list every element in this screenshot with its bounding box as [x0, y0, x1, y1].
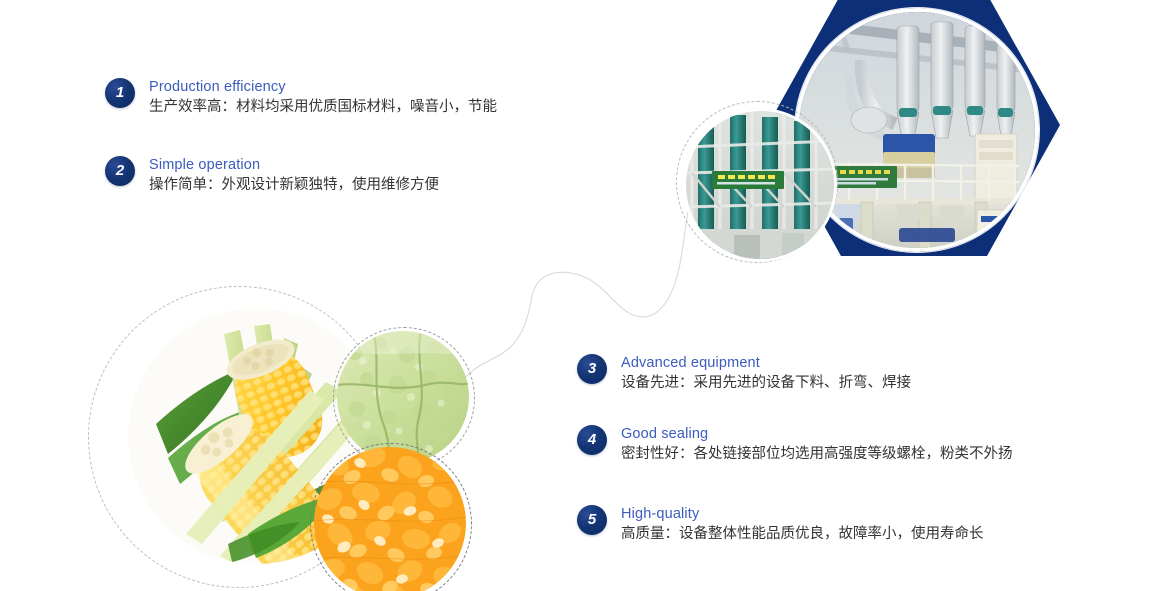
feature-badge-5: 5	[577, 505, 607, 535]
feature-item-1[interactable]: 1 Production efficiency 生产效率高：材料均采用优质国标材…	[105, 78, 497, 118]
feature-text-1: Production efficiency 生产效率高：材料均采用优质国标材料，…	[149, 78, 497, 118]
feature-desc-2: 操作简单：外观设计新颖独特，使用维修方便	[149, 175, 439, 196]
feature-badge-2: 2	[105, 156, 135, 186]
corn-kernels-dashed-ring	[310, 443, 472, 591]
feature-desc-3: 设备先进：采用先进的设备下料、折弯、焊接	[621, 373, 911, 394]
feature-badge-4: 4	[577, 425, 607, 455]
feature-item-5[interactable]: 5 High-quality 高质量：设备整体性能品质优良，故障率小，使用寿命长	[577, 505, 984, 545]
feature-title-1: Production efficiency	[149, 78, 497, 96]
feature-text-4: Good sealing 密封性好：各处链接部位均选用高强度等级螺栓，粉类不外扬	[621, 425, 1013, 465]
feature-text-5: High-quality 高质量：设备整体性能品质优良，故障率小，使用寿命长	[621, 505, 984, 545]
feature-desc-4: 密封性好：各处链接部位均选用高强度等级螺栓，粉类不外扬	[621, 444, 1013, 465]
feature-title-4: Good sealing	[621, 425, 1013, 443]
feature-item-2[interactable]: 2 Simple operation 操作简单：外观设计新颖独特，使用维修方便	[105, 156, 439, 196]
feature-badge-1: 1	[105, 78, 135, 108]
mill-small-photo	[683, 108, 837, 262]
feature-desc-1: 生产效率高：材料均采用优质国标材料，噪音小，节能	[149, 97, 497, 118]
feature-badge-3: 3	[577, 354, 607, 384]
infographic-stage: 1 Production efficiency 生产效率高：材料均采用优质国标材…	[0, 0, 1154, 591]
feature-text-2: Simple operation 操作简单：外观设计新颖独特，使用维修方便	[149, 156, 439, 196]
feature-title-5: High-quality	[621, 505, 984, 523]
feature-title-2: Simple operation	[149, 156, 439, 174]
feature-text-3: Advanced equipment 设备先进：采用先进的设备下料、折弯、焊接	[621, 354, 911, 394]
feature-item-3[interactable]: 3 Advanced equipment 设备先进：采用先进的设备下料、折弯、焊…	[577, 354, 911, 394]
feature-desc-5: 高质量：设备整体性能品质优良，故障率小，使用寿命长	[621, 524, 984, 545]
feature-title-3: Advanced equipment	[621, 354, 911, 372]
feature-item-4[interactable]: 4 Good sealing 密封性好：各处链接部位均选用高强度等级螺栓，粉类不…	[577, 425, 1013, 465]
